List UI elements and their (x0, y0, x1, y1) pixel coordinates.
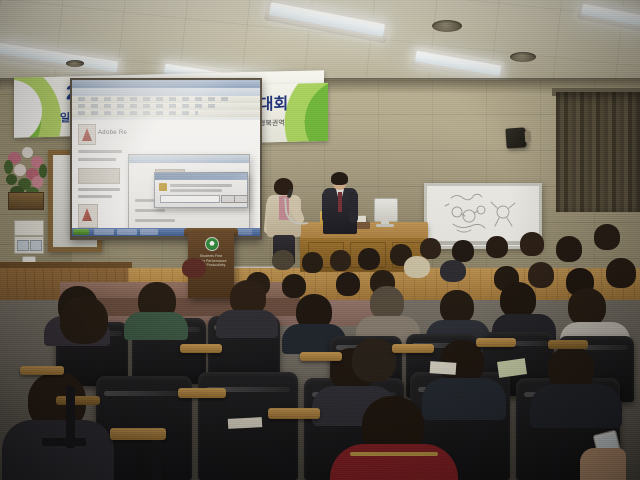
audience-head (520, 232, 544, 256)
warning-icon (159, 183, 167, 191)
audience-shoulders (2, 420, 114, 480)
seat-armrest (20, 366, 64, 375)
seat-armrest (180, 344, 222, 353)
handout-paper (430, 361, 457, 375)
audience-head (336, 272, 360, 296)
dialog-ok-button[interactable] (221, 195, 235, 203)
audience-head (452, 240, 474, 262)
browser-title-bar (72, 80, 260, 88)
dialog-title-bar (155, 173, 247, 180)
audience-head (358, 248, 380, 270)
seat-armrest (268, 408, 320, 419)
university-emblem-icon (205, 237, 219, 251)
audience-shoulders (422, 378, 506, 420)
audience-head (352, 338, 396, 382)
audience-head (556, 236, 582, 262)
moderator-hair (331, 172, 348, 185)
audience-head-with-cap (272, 250, 294, 270)
wall-speaker (505, 127, 526, 148)
audience-head (594, 224, 620, 250)
window-curtain (556, 92, 640, 212)
handout-paper (228, 417, 262, 429)
ceiling-downlight (432, 20, 462, 32)
moderator-right-arm (349, 191, 358, 223)
seat-armrest (392, 344, 434, 353)
audience-head (60, 296, 108, 344)
browser-bookmark-row (72, 110, 260, 117)
seat-armrest (548, 340, 588, 349)
hand-holding-phone (580, 448, 626, 480)
ceiling-downlight (66, 60, 84, 67)
moderator-in-suit (322, 172, 362, 250)
audience-head (440, 290, 474, 324)
audience-head (370, 286, 404, 320)
audience-shoulders (330, 444, 458, 480)
av-control-panel[interactable] (14, 236, 44, 254)
audience-head-with-cap (440, 260, 466, 282)
monitor-base (376, 224, 394, 227)
seat-armrest (110, 428, 166, 440)
audience-shoulders (530, 384, 622, 428)
audience-shoulders (216, 310, 278, 338)
audience-shoulders (124, 312, 188, 340)
alert-dialog[interactable] (154, 172, 248, 208)
audience-head (302, 252, 323, 273)
wall-control-panel (14, 220, 44, 236)
wall-flower-arrangement (4, 146, 48, 198)
audience-head (500, 282, 536, 318)
banner-swoosh-highlight (14, 71, 66, 138)
flower-wall-box (8, 192, 44, 210)
audience-head (568, 288, 606, 326)
seat-armrest (178, 388, 226, 398)
audience-head-with-cap (182, 258, 206, 278)
start-button[interactable] (73, 229, 89, 235)
audience-head (330, 250, 351, 271)
pdf-document-page: Adobe Re (72, 120, 260, 234)
seat-leg-post (152, 440, 161, 480)
audience-head (486, 236, 508, 258)
browser-tab-bar (72, 88, 260, 96)
seat-armrest (300, 352, 342, 361)
auditorium-photo: 2 일시 술대회 대구경북권역 Adobe Re (0, 0, 640, 480)
audience-head-with-cap (404, 256, 430, 278)
dialog-text-input[interactable] (160, 195, 220, 203)
audience-head (606, 258, 636, 288)
projection-screen: Adobe Re (72, 80, 260, 236)
browser-toolbar-row (72, 96, 260, 103)
moderator-necktie (338, 192, 342, 212)
browser-toolbar-row (72, 103, 260, 110)
pdf-file-icon (78, 124, 96, 145)
seat-armrest (56, 396, 100, 405)
dialog-cancel-button[interactable] (234, 195, 248, 203)
seat-leg-post (42, 438, 86, 446)
dialog-title-bar (129, 155, 249, 163)
sweater-stripe (350, 452, 438, 456)
pdf-file-icon (78, 204, 98, 228)
adobe-reader-label: Adobe Re (98, 130, 127, 136)
seat-armrest (476, 338, 516, 347)
ceiling-downlight (510, 52, 536, 62)
